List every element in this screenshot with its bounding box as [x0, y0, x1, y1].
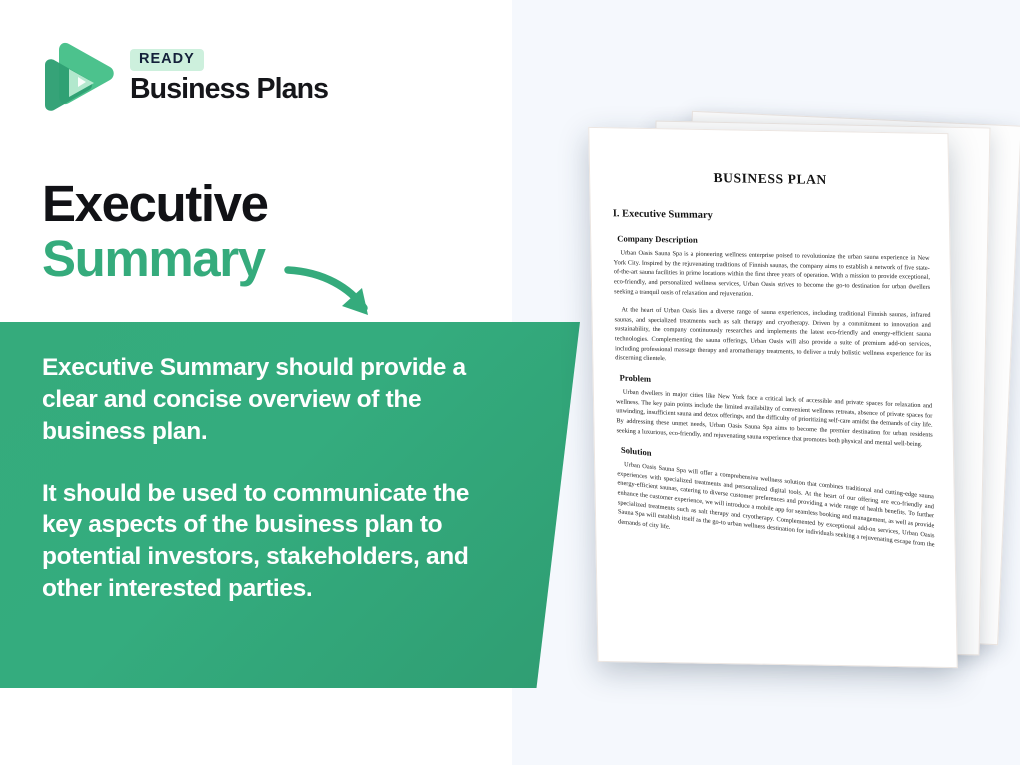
page-title: Executive Summary	[42, 178, 462, 286]
brand-logo[interactable]: READY Business Plans	[42, 36, 328, 116]
curved-arrow-down-right-icon	[280, 258, 390, 330]
document-title: BUSINESS PLAN	[612, 168, 928, 190]
section-paragraph: Urban Oasis Sauna Spa is a pioneering we…	[613, 248, 930, 302]
play-triangle-logo-icon	[42, 36, 116, 116]
brand-name: Business Plans	[130, 74, 328, 105]
panel-paragraph-2: It should be used to communicate the key…	[42, 478, 492, 605]
document-section-number: I. Executive Summary	[613, 208, 929, 225]
document-page-front[interactable]: BUSINESS PLAN I. Executive Summary Compa…	[588, 127, 958, 668]
section-heading: Company Description	[617, 233, 929, 248]
panel-paragraph-1: Executive Summary should provide a clear…	[42, 352, 492, 448]
section-paragraph: Urban dwellers in major cities like New …	[616, 387, 933, 450]
document-section-company-description: Company Description Urban Oasis Sauna Sp…	[613, 233, 931, 369]
page-title-line1: Executive	[42, 178, 462, 230]
page-title-line2: Summary	[42, 232, 462, 286]
section-paragraph: At the heart of Urban Oasis lies a diver…	[614, 305, 931, 368]
document-stack: nashby aualitsfor he urban saunanas, the…	[505, 90, 1020, 690]
document-section-solution: Solution Urban Oasis Sauna Spa will offe…	[617, 445, 935, 561]
panel-description: Executive Summary should provide a clear…	[42, 352, 492, 605]
document-section-problem: Problem Urban dwellers in major cities l…	[616, 372, 933, 450]
ready-badge: READY	[130, 49, 204, 71]
